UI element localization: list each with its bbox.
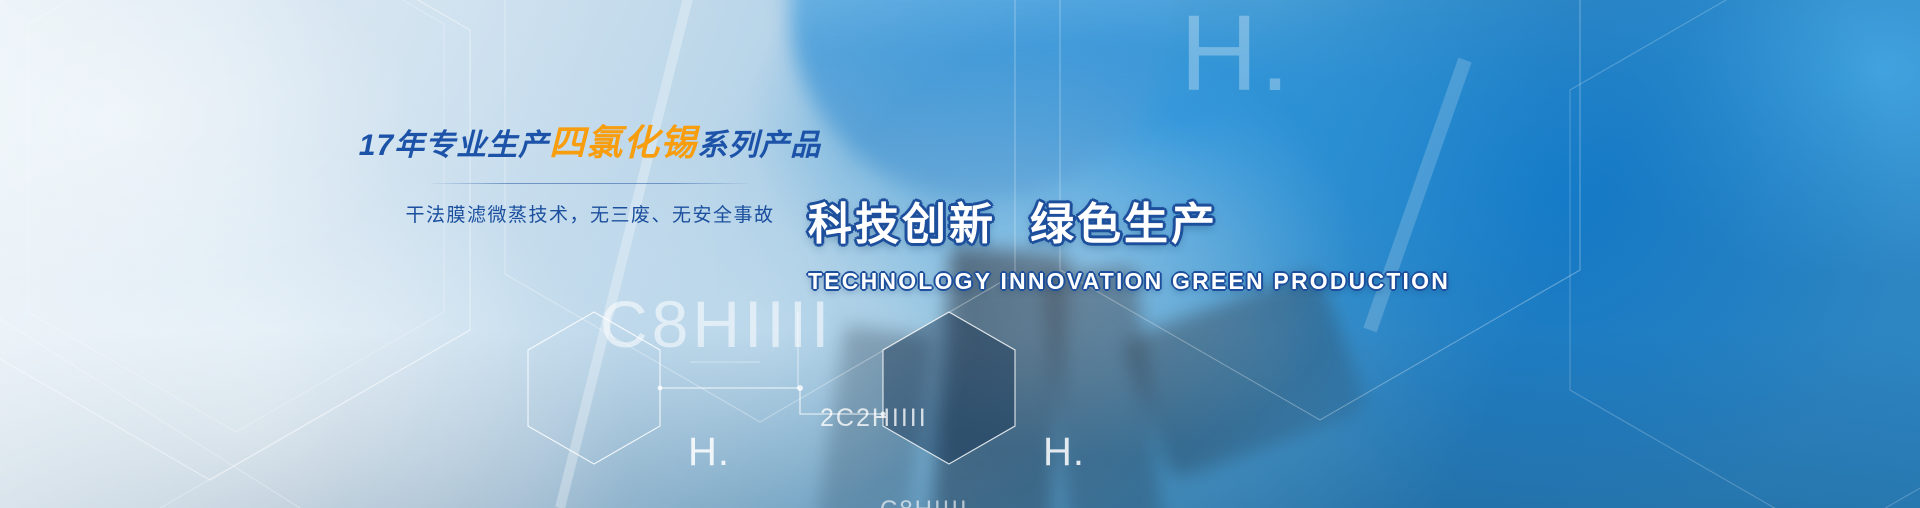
slogan-chinese-part1: 科技创新: [808, 200, 996, 249]
right-slogan-block: 科技创新绿色生产 TECHNOLOGY INNOVATION GREEN PRO…: [808, 188, 1450, 295]
left-subline: 干法膜滤微蒸技术，无三废、无安全事故: [330, 200, 850, 227]
watermark-h-large: H.: [1180, 0, 1292, 115]
left-copy-block: 17年专业生产四氯化锡系列产品 干法膜滤微蒸技术，无三废、无安全事故: [330, 120, 850, 227]
hero-banner: H. C8HIIII 2C2HIIII H. H. C8HIIII 17年专业生…: [0, 0, 1920, 508]
left-headline-accent: 四氯化锡: [549, 122, 697, 163]
watermark-c8hiiii: C8HIIII: [600, 286, 833, 362]
slogan-chinese-part2: 绿色生产: [1030, 200, 1218, 249]
left-headline: 17年专业生产四氯化锡系列产品: [330, 120, 850, 165]
left-headline-suffix: 系列产品: [697, 129, 821, 162]
slogan-english: TECHNOLOGY INNOVATION GREEN PRODUCTION: [808, 268, 1450, 295]
watermark-hex-right: H.: [1043, 430, 1085, 475]
watermark-bottom: C8HIIII: [880, 496, 969, 508]
left-headline-prefix: 17年专业生产: [359, 129, 549, 162]
headline-divider: [432, 183, 748, 184]
slogan-chinese: 科技创新绿色生产: [808, 188, 1450, 252]
watermark-hex-left: H.: [688, 430, 730, 475]
watermark-2c2hiiii: 2C2HIIII: [820, 404, 928, 433]
